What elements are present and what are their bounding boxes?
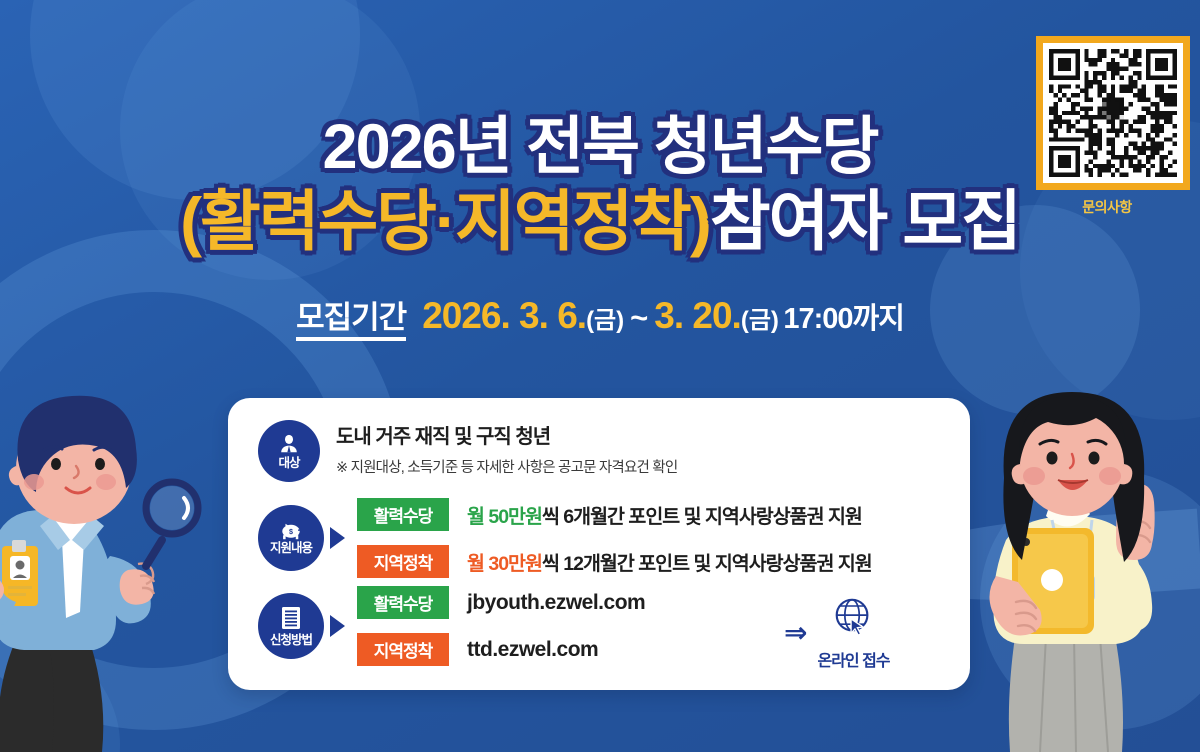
online-application-block: ⇒ 온라인 접수 <box>784 594 890 671</box>
support-value-settlement: 월 30만원씩 12개월간 포인트 및 지역사랑상품권 지원 <box>467 547 872 576</box>
period-start-date: 2026. 3. 6. <box>422 295 586 336</box>
tag-local-settlement-apply: 지역정착 <box>357 633 449 666</box>
title-line-2: (활력수당·지역정착)참여자 모집 <box>0 185 1200 259</box>
title-highlight-text: (활력수당·지역정착) <box>180 184 710 258</box>
page-title: 2026년 전북 청년수당 (활력수당·지역정착)참여자 모집 <box>0 112 1200 258</box>
globe-cursor-icon <box>830 594 876 640</box>
recruitment-period: 모집기간2026. 3. 6.(금)~3. 20.(금) 17:00까지 <box>0 292 1200 337</box>
apply-url-settlement[interactable]: ttd.ezwel.com <box>467 638 598 662</box>
svg-text:$: $ <box>289 528 293 536</box>
title-line-1-text: 2026년 전북 청년수당 <box>323 112 878 182</box>
support-pair-vitality: 활력수당 월 50만원씩 6개월간 포인트 및 지역사랑상품권 지원 <box>357 498 872 531</box>
period-end-date: 3. 20. <box>654 295 741 336</box>
person-icon <box>278 433 300 455</box>
title-line-1: 2026년 전북 청년수당 <box>0 112 1200 183</box>
info-card: 대상 도내 거주 재직 및 구직 청년 ※ 지원대상, 소득기준 등 자세한 사… <box>228 398 970 690</box>
poster-root: 문의사항 2026년 전북 청년수당 (활력수당·지역정착)참여자 모집 모집기… <box>0 0 1200 752</box>
badge-support-label: 지원내용 <box>270 542 312 555</box>
info-row-support: $ 지원내용 활력수당 월 50만원씩 6개월간 포인트 및 지역사랑상품권 지… <box>258 498 872 578</box>
support-amount-vitality: 월 50만원 <box>467 506 542 528</box>
globe-block: 온라인 접수 <box>817 594 889 671</box>
support-pairs: 활력수당 월 50만원씩 6개월간 포인트 및 지역사랑상품권 지원 지역정착 … <box>357 498 872 578</box>
apply-url-vitality[interactable]: jbyouth.ezwel.com <box>467 591 645 615</box>
tag-vitality-allowance-apply: 활력수당 <box>357 586 449 619</box>
double-arrow-icon: ⇒ <box>784 616 807 649</box>
info-row-target: 대상 도내 거주 재직 및 구직 청년 ※ 지원대상, 소득기준 등 자세한 사… <box>258 420 677 482</box>
badge-apply-label: 신청방법 <box>270 634 312 647</box>
piggy-bank-icon: $ <box>278 521 304 540</box>
document-icon <box>280 606 302 632</box>
tag-local-settlement: 지역정착 <box>357 545 449 578</box>
period-end-day: (금) <box>741 307 779 334</box>
online-application-label: 온라인 접수 <box>817 647 889 671</box>
support-amount-settlement: 월 30만원 <box>467 553 542 575</box>
target-main-text: 도내 거주 재직 및 구직 청년 <box>336 425 677 449</box>
period-deadline: 17:00까지 <box>783 303 904 335</box>
support-rest-settlement: 씩 12개월간 포인트 및 지역사랑상품권 지원 <box>542 553 872 575</box>
badge-target-label: 대상 <box>278 457 299 470</box>
target-note-text: ※ 지원대상, 소득기준 등 자세한 사항은 공고문 자격요건 확인 <box>336 456 677 477</box>
support-rest-vitality: 씩 6개월간 포인트 및 지역사랑상품권 지원 <box>542 506 862 528</box>
apply-pairs: 활력수당 jbyouth.ezwel.com 지역정착 ttd.ezwel.co… <box>357 586 645 666</box>
title-line-2-rest: 참여자 모집 <box>710 184 1020 258</box>
woman-with-tablet-illustration <box>950 380 1200 752</box>
arrow-right-icon-support <box>330 527 345 549</box>
period-tilde: ~ <box>630 300 648 335</box>
support-value-vitality: 월 50만원씩 6개월간 포인트 및 지역사랑상품권 지원 <box>467 500 862 529</box>
tag-vitality-allowance: 활력수당 <box>357 498 449 531</box>
apply-pair-vitality: 활력수당 jbyouth.ezwel.com <box>357 586 645 619</box>
apply-pair-settlement: 지역정착 ttd.ezwel.com <box>357 633 645 666</box>
period-label: 모집기간 <box>296 300 406 341</box>
arrow-right-icon-apply <box>330 615 345 637</box>
period-start-day: (금) <box>586 307 624 334</box>
info-row-apply: 신청방법 활력수당 jbyouth.ezwel.com 지역정착 ttd.ezw… <box>258 586 645 666</box>
target-text-block: 도내 거주 재직 및 구직 청년 ※ 지원대상, 소득기준 등 자세한 사항은 … <box>336 425 677 477</box>
man-with-magnifier-illustration <box>0 380 270 752</box>
support-pair-settlement: 지역정착 월 30만원씩 12개월간 포인트 및 지역사랑상품권 지원 <box>357 545 872 578</box>
